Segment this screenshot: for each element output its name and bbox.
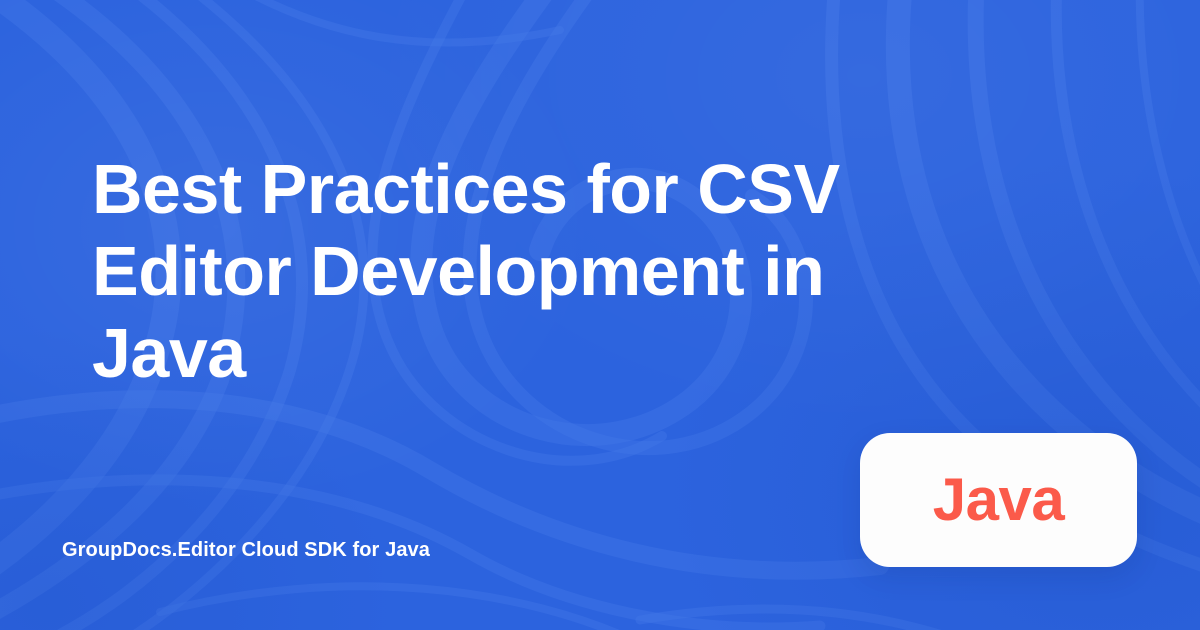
language-badge: Java [860,433,1137,567]
page-title: Best Practices for CSV Editor Developmen… [92,148,1022,394]
title-line-2: Editor Development in [92,230,1022,312]
social-share-card: Best Practices for CSV Editor Developmen… [0,0,1200,630]
title-line-1: Best Practices for CSV [92,148,1022,230]
product-caption: GroupDocs.Editor Cloud SDK for Java [62,537,430,563]
language-badge-label: Java [933,470,1064,530]
title-line-3: Java [92,312,1022,394]
